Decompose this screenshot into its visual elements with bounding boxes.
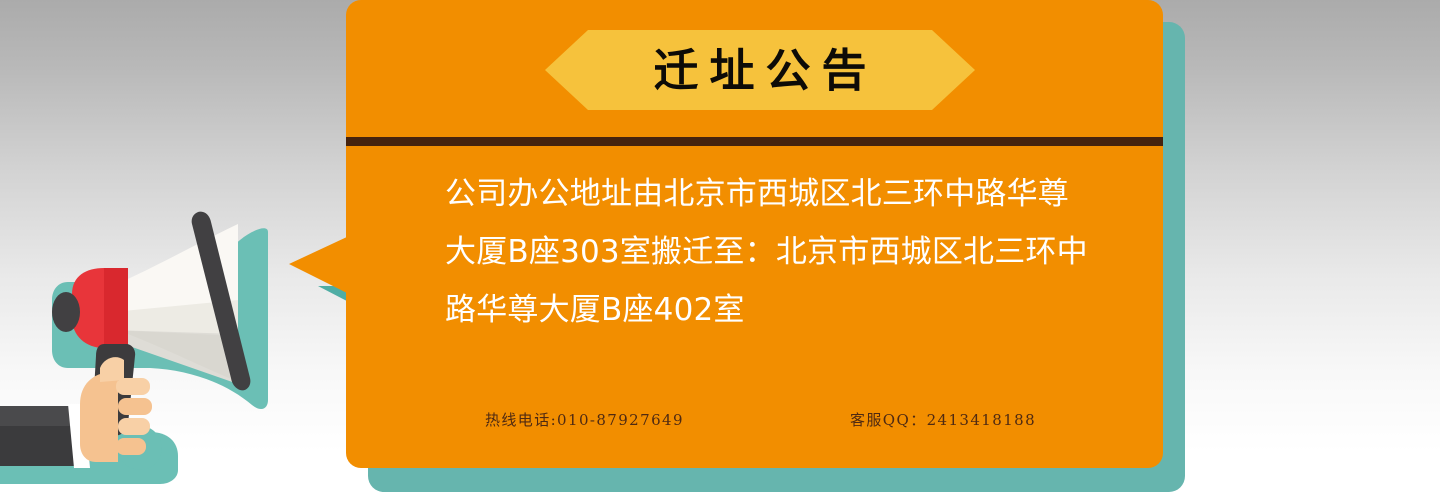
finger-4 xyxy=(116,438,146,455)
finger-3 xyxy=(118,418,150,435)
finger-1 xyxy=(116,378,150,395)
header-divider xyxy=(346,137,1163,146)
finger-2 xyxy=(118,398,152,415)
hand-palm xyxy=(80,372,118,462)
speech-bubble-tail xyxy=(289,236,349,294)
notice-body-text: 公司办公地址由北京市西城区北三环中路华尊大厦B座303室搬迁至：北京市西城区北三… xyxy=(445,165,1095,339)
megaphone-cap-shade xyxy=(104,268,128,348)
qq-text: 客服QQ：2413418188 xyxy=(850,409,1036,430)
title-banner: 迁址公告 xyxy=(545,30,975,110)
relocation-notice-banner: 迁址公告 公司办公地址由北京市西城区北三环中路华尊大厦B座303室搬迁至：北京市… xyxy=(0,0,1440,492)
contact-footer: 热线电话:010-87927649 客服QQ：2413418188 xyxy=(346,409,1163,433)
page-title: 迁址公告 xyxy=(545,30,975,110)
hotline-text: 热线电话:010-87927649 xyxy=(485,409,684,430)
megaphone-knob xyxy=(52,292,80,332)
suit-sleeve-highlight xyxy=(0,406,74,426)
notice-card: 迁址公告 公司办公地址由北京市西城区北三环中路华尊大厦B座303室搬迁至：北京市… xyxy=(346,0,1163,468)
